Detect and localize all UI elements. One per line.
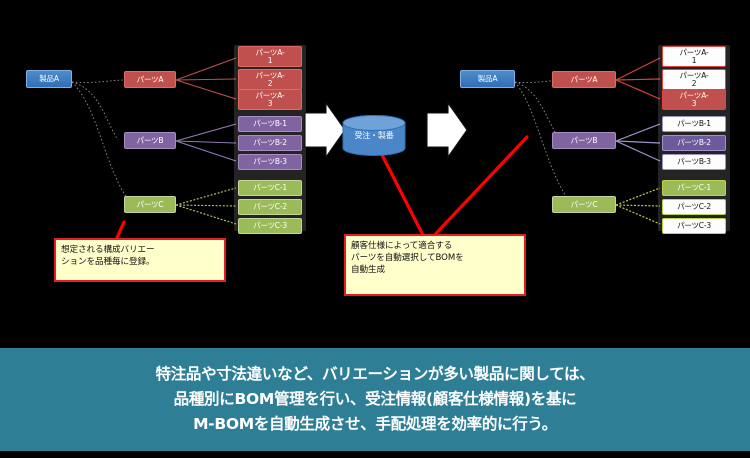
left-parts-b-2[interactable]: パーツB-2 <box>238 135 302 151</box>
right-parts-c-3[interactable]: パーツC-3 <box>662 218 726 234</box>
right-parts-c-box[interactable]: パーツC <box>552 196 616 213</box>
left-parts-c-box[interactable]: パーツC <box>124 196 176 213</box>
callout-left: 想定される構成バリエー ションを品種毎に登録。 <box>54 238 226 282</box>
left-parts-c-1[interactable]: パーツC-1 <box>238 180 302 196</box>
slide-canvas: 製品A パーツA パーツB パーツC パーツA- 1 パーツA- 2 パーツA-… <box>0 0 750 458</box>
right-parts-a-box[interactable]: パーツA <box>552 71 616 88</box>
footer-strip <box>0 451 750 458</box>
left-product-box[interactable]: 製品A <box>26 70 72 88</box>
left-parts-b-3[interactable]: パーツB-3 <box>238 154 302 170</box>
right-parts-b-box[interactable]: パーツB <box>552 132 616 149</box>
database-cylinder[interactable]: 受注・製番 <box>341 115 407 157</box>
right-parts-a-3[interactable]: パーツA- 3 <box>662 89 726 110</box>
summary-banner: 特注品や寸法違いなど、バリエーションが多い製品に関しては、 品種別にBOM管理を… <box>0 348 750 451</box>
right-parts-c-1[interactable]: パーツC-1 <box>662 180 726 196</box>
banner-line-1: 特注品や寸法違いなど、バリエーションが多い製品に関しては、 <box>156 362 595 387</box>
left-parts-a-1[interactable]: パーツA- 1 <box>238 46 302 67</box>
right-parts-b-3[interactable]: パーツB-3 <box>662 154 726 170</box>
right-parts-a-2[interactable]: パーツA- 2 <box>662 69 726 90</box>
right-product-box[interactable]: 製品A <box>460 70 515 88</box>
left-parts-c-2[interactable]: パーツC-2 <box>238 199 302 215</box>
left-parts-a-3[interactable]: パーツA- 3 <box>238 89 302 110</box>
database-label: 受注・製番 <box>341 130 407 141</box>
right-parts-b-2[interactable]: パーツB-2 <box>662 135 726 151</box>
left-parts-b-box[interactable]: パーツB <box>124 132 176 149</box>
left-parts-a-2[interactable]: パーツA- 2 <box>238 69 302 90</box>
right-parts-b-1[interactable]: パーツB-1 <box>662 116 726 132</box>
right-parts-c-2[interactable]: パーツC-2 <box>662 199 726 215</box>
left-parts-b-1[interactable]: パーツB-1 <box>238 116 302 132</box>
left-parts-a-box[interactable]: パーツA <box>124 71 176 88</box>
banner-line-2: 品種別にBOM管理を行い、受注情報(顧客仕様情報)を基に <box>174 387 577 412</box>
callout-right: 顧客仕様によって適合する パーツを自動選択してBOMを 自動生成 <box>344 234 526 296</box>
left-parts-c-3[interactable]: パーツC-3 <box>238 218 302 234</box>
banner-line-3: M-BOMを自動生成させ、手配処理を効率的に行う。 <box>193 412 557 437</box>
right-parts-a-1[interactable]: パーツA- 1 <box>662 46 726 67</box>
